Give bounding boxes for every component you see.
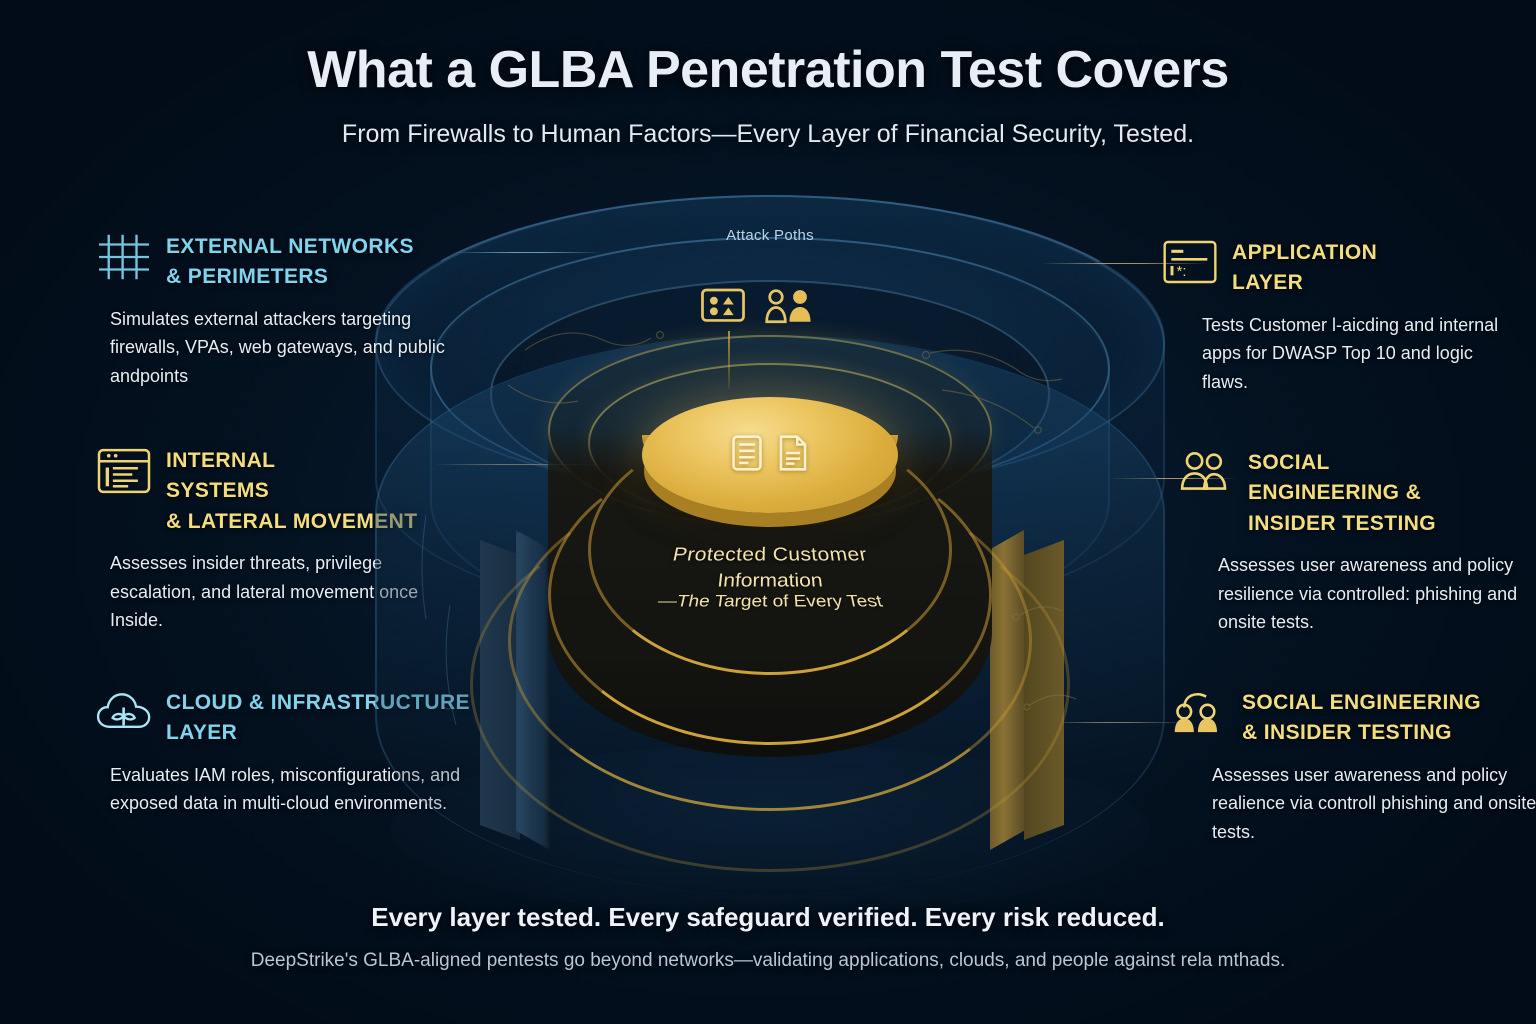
two-people-outline-icon: [1178, 448, 1234, 500]
panel-title-line: & PERIMETERS: [166, 265, 328, 288]
panel-title-line: SOCIAL: [1248, 451, 1330, 474]
panel-title: SOCIAL ENGINEERING & INSIDER TESTING: [1248, 448, 1436, 539]
panel-title-line: SYSTEMS: [166, 479, 269, 502]
file-icon: [776, 433, 810, 478]
page-title: What a GLBA Penetration Test Covers: [0, 40, 1536, 100]
panel-title-line: ENGINEERING &: [1248, 481, 1421, 504]
panel-body: Tests Customer l-aicding and internal ap…: [1162, 311, 1522, 396]
panel-social-engineering-2[interactable]: SOCIAL ENGINEERING & INSIDER TESTING Ass…: [1172, 688, 1536, 846]
window-list-icon: [96, 446, 152, 498]
footer-headline: Every layer tested. Every safeguard veri…: [0, 902, 1536, 933]
footer-subline: DeepStrike's GLBA-aligned pentests go be…: [0, 950, 1536, 972]
panel-application-layer[interactable]: *: APPLICATION LAYER Tests Customer l-ai…: [1162, 238, 1522, 396]
panel-title-line: LAYER: [1232, 271, 1303, 294]
panel-title-line: LAYER: [166, 721, 237, 744]
leader-line-external: [452, 252, 602, 253]
panel-body: Simulates external attackers targeting f…: [96, 305, 456, 390]
users-icon: [764, 287, 818, 330]
attack-paths-label: Attack Poths: [330, 227, 1210, 244]
panel-header: *: APPLICATION LAYER: [1162, 238, 1522, 299]
panel-header: SOCIAL ENGINEERING & INSIDER TESTING: [1172, 688, 1536, 749]
panel-title-line: SOCIAL ENGINEERING: [1242, 691, 1481, 714]
app-window-icon: *:: [1162, 238, 1218, 290]
icon-connector-stem: [728, 331, 730, 389]
grid-network-icon: [96, 232, 152, 284]
panel-title: SOCIAL ENGINEERING & INSIDER TESTING: [1242, 688, 1481, 749]
monitor-image-icon: [700, 287, 746, 330]
panel-body: Assesses user awareness and policy reali…: [1172, 761, 1536, 846]
panel-external-networks[interactable]: EXTERNAL NETWORKS & PERIMETERS Simulates…: [96, 232, 456, 390]
top-icon-group: [700, 285, 860, 331]
panel-title-line: APPLICATION: [1232, 241, 1377, 264]
page-subtitle: From Firewalls to Human Factors—Every La…: [0, 120, 1536, 149]
panel-title-line: INSIDER TESTING: [1248, 512, 1436, 535]
infographic-canvas: What a GLBA Penetration Test Covers From…: [0, 0, 1536, 1024]
cloud-key-icon: [96, 688, 152, 740]
panel-title-line: INTERNAL: [166, 449, 275, 472]
panel-title-line: & INSIDER TESTING: [1242, 721, 1452, 744]
panel-header: SOCIAL ENGINEERING & INSIDER TESTING: [1178, 448, 1536, 539]
core-icon-group: [642, 397, 898, 513]
layered-security-diagram: Attack Poths: [330, 185, 1210, 885]
panel-body: Assesses user awareness and policy resil…: [1178, 551, 1536, 636]
panel-title: APPLICATION LAYER: [1232, 238, 1377, 299]
two-people-filled-icon: [1172, 688, 1228, 740]
svg-text:*:: *:: [1177, 264, 1187, 280]
panel-social-engineering-1[interactable]: SOCIAL ENGINEERING & INSIDER TESTING Ass…: [1178, 448, 1536, 637]
document-icon: [730, 433, 764, 478]
